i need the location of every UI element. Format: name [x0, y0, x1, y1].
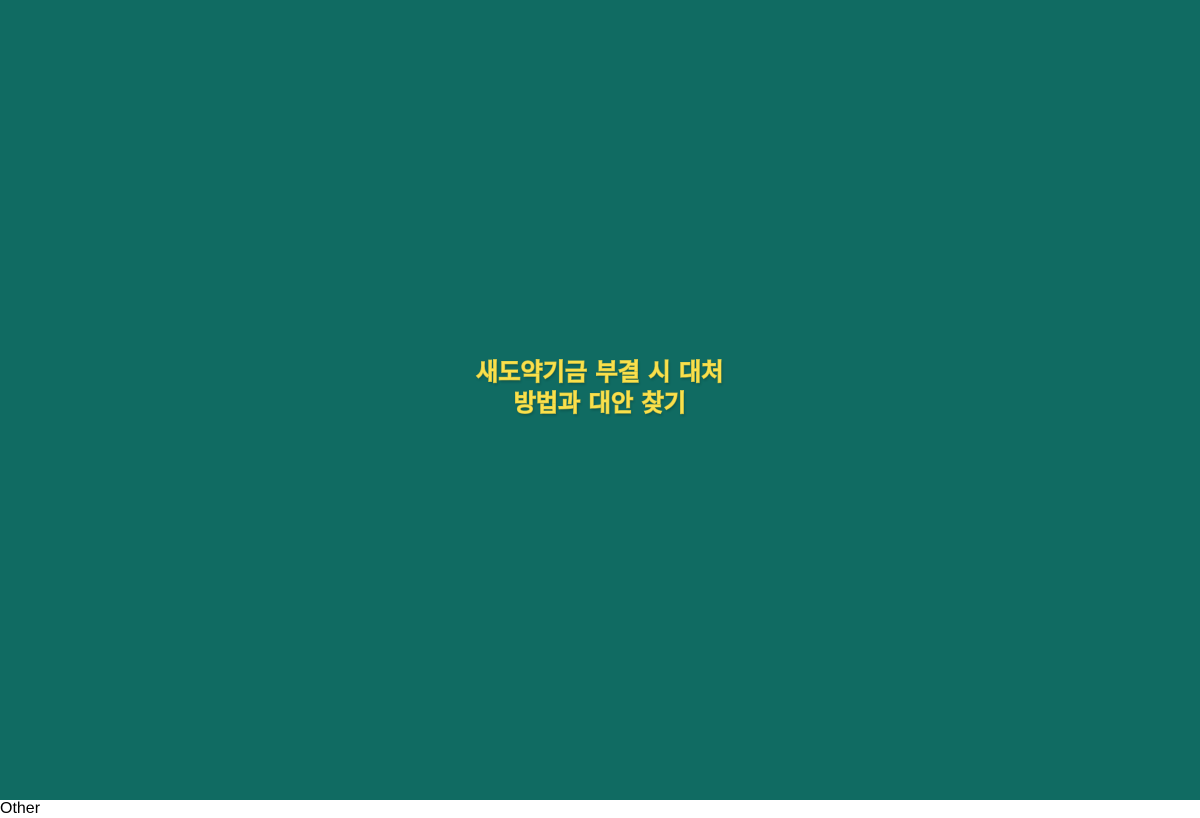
- title-line-2: 방법과 대안 찾기: [0, 388, 1200, 419]
- banner-canvas: 새도약기금 부결 시 대처 방법과 대안 찾기: [0, 0, 1200, 800]
- title-line-1: 새도약기금 부결 시 대처: [0, 357, 1200, 388]
- title-block: 새도약기금 부결 시 대처 방법과 대안 찾기: [0, 357, 1200, 418]
